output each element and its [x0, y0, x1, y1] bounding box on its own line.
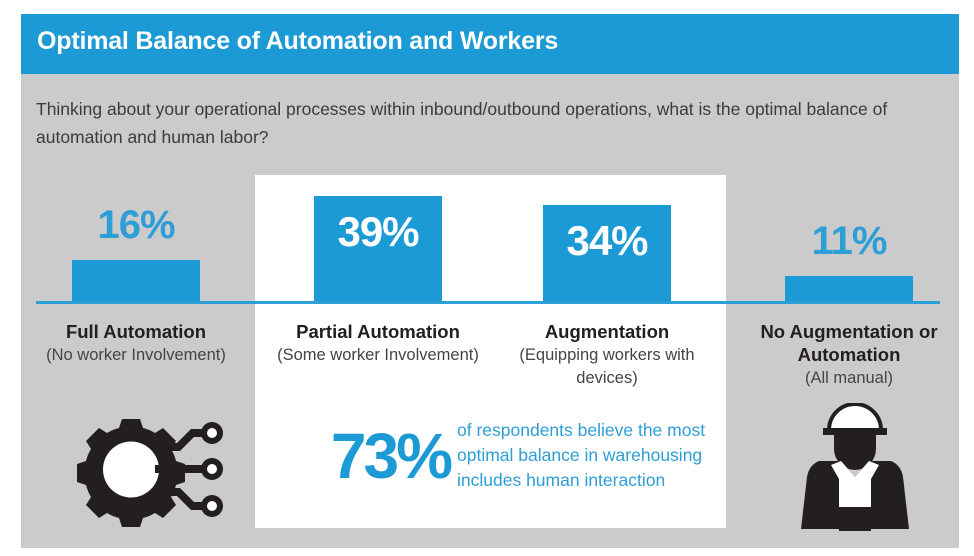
category-title-1: Partial Automation: [258, 320, 498, 343]
category-label-3: No Augmentation or Automation (All manua…: [729, 320, 969, 390]
category-sub-3: (All manual): [729, 367, 969, 390]
bar-value-3: 11%: [785, 219, 913, 264]
gear-circuit-icon: [60, 407, 235, 532]
category-label-1: Partial Automation (Some worker Involvem…: [258, 320, 498, 367]
category-title-2: Augmentation: [487, 320, 727, 343]
category-sub-1: (Some worker Involvement): [258, 344, 498, 367]
bar-0: [72, 260, 200, 301]
callout-number: 73%: [275, 424, 450, 488]
header-bar: Optimal Balance of Automation and Worker…: [21, 14, 959, 74]
bar-value-0: 16%: [72, 203, 200, 248]
bar-value-2: 34%: [543, 217, 671, 265]
bar-3: [785, 276, 913, 301]
category-title-0: Full Automation: [16, 320, 256, 343]
category-sub-0: (No worker Involvement): [16, 344, 256, 367]
callout-text: of respondents believe the most optimal …: [457, 418, 715, 493]
page-margin-right: [959, 0, 974, 556]
page-margin-left: [0, 0, 21, 556]
page-margin-bottom: [0, 548, 974, 556]
category-label-2: Augmentation (Equipping workers with dev…: [487, 320, 727, 390]
page-title: Optimal Balance of Automation and Worker…: [37, 27, 558, 56]
survey-question: Thinking about your operational processe…: [36, 95, 926, 151]
infographic-root: Optimal Balance of Automation and Worker…: [0, 0, 974, 556]
page-margin-top: [0, 0, 974, 14]
chart-baseline: [36, 301, 940, 304]
category-label-0: Full Automation (No worker Involvement): [16, 320, 256, 367]
hard-hat-worker-icon: [785, 403, 925, 533]
category-sub-2: (Equipping workers with devices): [487, 344, 727, 390]
bar-value-1: 39%: [314, 208, 442, 256]
category-title-3: No Augmentation or Automation: [729, 320, 969, 366]
